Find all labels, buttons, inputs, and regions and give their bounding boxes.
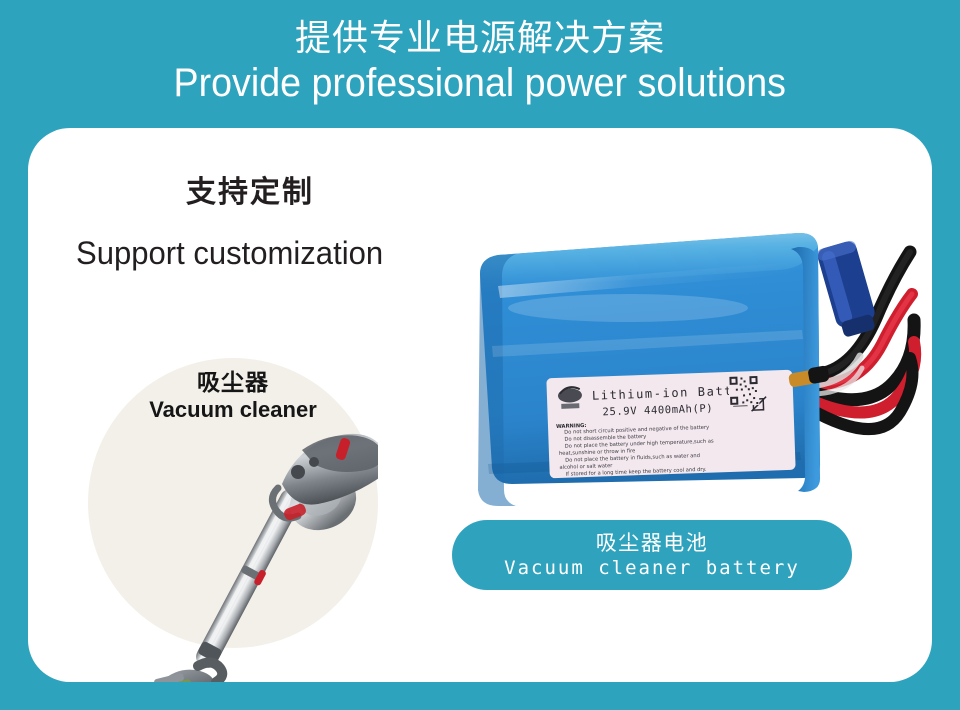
banner-title-en: Provide professional power solutions [174, 60, 786, 106]
stick-vacuum-cleaner-icon [118, 418, 378, 682]
content-card: 支持定制 Support customization 吸尘器 Vacuum cl… [28, 128, 932, 682]
vacuum-label-cn: 吸尘器 [88, 368, 378, 396]
pill-label-cn: 吸尘器电池 [596, 531, 709, 556]
customization-heading-en: Support customization [76, 234, 383, 272]
battery-pack-photo: Lithium-ion Battery 25.9V 4400mAh(P) WAR… [428, 178, 932, 558]
pill-label-en: Vacuum cleaner battery [504, 556, 800, 580]
page-banner: 提供专业电源解决方案 Provide professional power so… [0, 0, 960, 128]
banner-title-cn: 提供专业电源解决方案 [295, 18, 665, 58]
vacuum-battery-pill-button[interactable]: 吸尘器电池 Vacuum cleaner battery [452, 520, 852, 590]
customization-heading-cn: 支持定制 [186, 176, 314, 210]
